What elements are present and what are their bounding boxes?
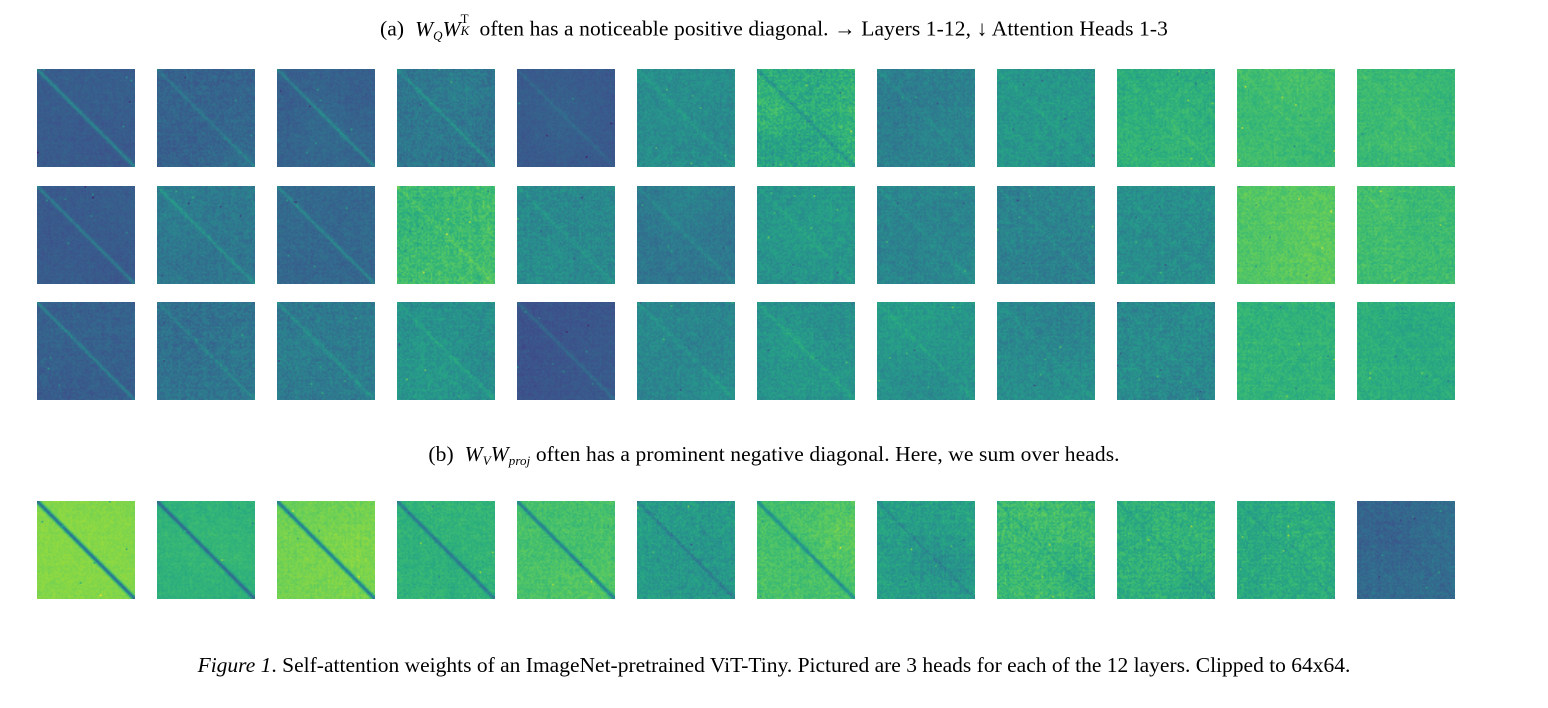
panel-b-tile-headsum-layer7 xyxy=(757,501,855,599)
panel-a-heads-text: Attention Heads 1-3 xyxy=(992,17,1168,41)
panel-b-tile-headsum-layer5 xyxy=(517,501,615,599)
panel-a-tile-head2-layer4 xyxy=(397,186,495,284)
panel-b-label: (b) xyxy=(428,442,453,466)
panel-b-tile-headsum-layer2 xyxy=(157,501,255,599)
panel-a-tile-head1-layer6 xyxy=(637,69,735,167)
panel-b-tile-headsum-layer9 xyxy=(997,501,1095,599)
panel-b-tile-headsum-layer3 xyxy=(277,501,375,599)
panel-a-tile-head2-layer5 xyxy=(517,186,615,284)
panel-a-tile-head3-layer5 xyxy=(517,302,615,400)
panel-b-tile-headsum-layer4 xyxy=(397,501,495,599)
figure-caption: Figure 1. Self-attention weights of an I… xyxy=(0,652,1548,679)
figure-caption-label: Figure 1 xyxy=(198,653,272,677)
panel-a-tile-head1-layer12 xyxy=(1357,69,1455,167)
panel-b-tile-headsum-layer11 xyxy=(1237,501,1335,599)
panel-a-tile-head2-layer2 xyxy=(157,186,255,284)
panel-a-tile-head3-layer10 xyxy=(1117,302,1215,400)
figure-caption-period: . xyxy=(271,653,276,677)
panel-a-caption: (a) WQWTK often has a noticeable positiv… xyxy=(0,14,1548,49)
panel-a-tile-head3-layer4 xyxy=(397,302,495,400)
panel-a-tile-head2-layer7 xyxy=(757,186,855,284)
panel-a-formula: WQWTK xyxy=(410,17,474,41)
panel-a-tile-head1-layer1 xyxy=(37,69,135,167)
figure-caption-text: Self-attention weights of an ImageNet-pr… xyxy=(282,653,1350,677)
panel-a-tile-head1-layer7 xyxy=(757,69,855,167)
panel-a-tile-head2-layer8 xyxy=(877,186,975,284)
panel-a-tile-head3-layer1 xyxy=(37,302,135,400)
panel-b-tile-headsum-layer8 xyxy=(877,501,975,599)
panel-a-tile-head1-layer5 xyxy=(517,69,615,167)
panel-a-tile-head2-layer11 xyxy=(1237,186,1335,284)
panel-b-formula: WVWproj xyxy=(459,442,530,466)
panel-a-tile-head3-layer7 xyxy=(757,302,855,400)
panel-b-caption: (b) WVWproj often has a prominent negati… xyxy=(0,441,1548,474)
panel-a-tile-head2-layer1 xyxy=(37,186,135,284)
panel-a-tile-head2-layer10 xyxy=(1117,186,1215,284)
panel-a-tile-head1-layer8 xyxy=(877,69,975,167)
panel-a-tile-head1-layer4 xyxy=(397,69,495,167)
figure-1-root: (a) WQWTK often has a noticeable positiv… xyxy=(0,0,1548,708)
panel-a-tile-head2-layer9 xyxy=(997,186,1095,284)
panel-b-text-1: often has a prominent negative diagonal.… xyxy=(536,442,1120,466)
panel-b-tile-headsum-layer10 xyxy=(1117,501,1215,599)
arrow-right-icon: → xyxy=(834,17,856,41)
panel-a-text-1: often has a noticeable positive diagonal… xyxy=(479,17,828,41)
panel-a-tile-head1-layer11 xyxy=(1237,69,1335,167)
panel-a-tile-head3-layer8 xyxy=(877,302,975,400)
panel-b-tile-headsum-layer6 xyxy=(637,501,735,599)
panel-a-tile-head1-layer2 xyxy=(157,69,255,167)
panel-a-label: (a) xyxy=(380,17,404,41)
arrow-down-icon: ↓ xyxy=(977,17,988,41)
panel-a-tile-head3-layer3 xyxy=(277,302,375,400)
panel-a-tile-head1-layer3 xyxy=(277,69,375,167)
panel-a-tile-head3-layer12 xyxy=(1357,302,1455,400)
panel-a-tile-head1-layer9 xyxy=(997,69,1095,167)
panel-a-tile-head3-layer11 xyxy=(1237,302,1335,400)
panel-a-tile-head2-layer3 xyxy=(277,186,375,284)
panel-a-tile-head2-layer6 xyxy=(637,186,735,284)
panel-a-tile-head3-layer9 xyxy=(997,302,1095,400)
panel-a-tile-head1-layer10 xyxy=(1117,69,1215,167)
panel-a-tile-head2-layer12 xyxy=(1357,186,1455,284)
panel-a-tile-head3-layer2 xyxy=(157,302,255,400)
panel-b-tile-headsum-layer12 xyxy=(1357,501,1455,599)
panel-b-tile-headsum-layer1 xyxy=(37,501,135,599)
panel-a-layers-text: Layers 1-12, xyxy=(861,17,971,41)
panel-a-tile-head3-layer6 xyxy=(637,302,735,400)
